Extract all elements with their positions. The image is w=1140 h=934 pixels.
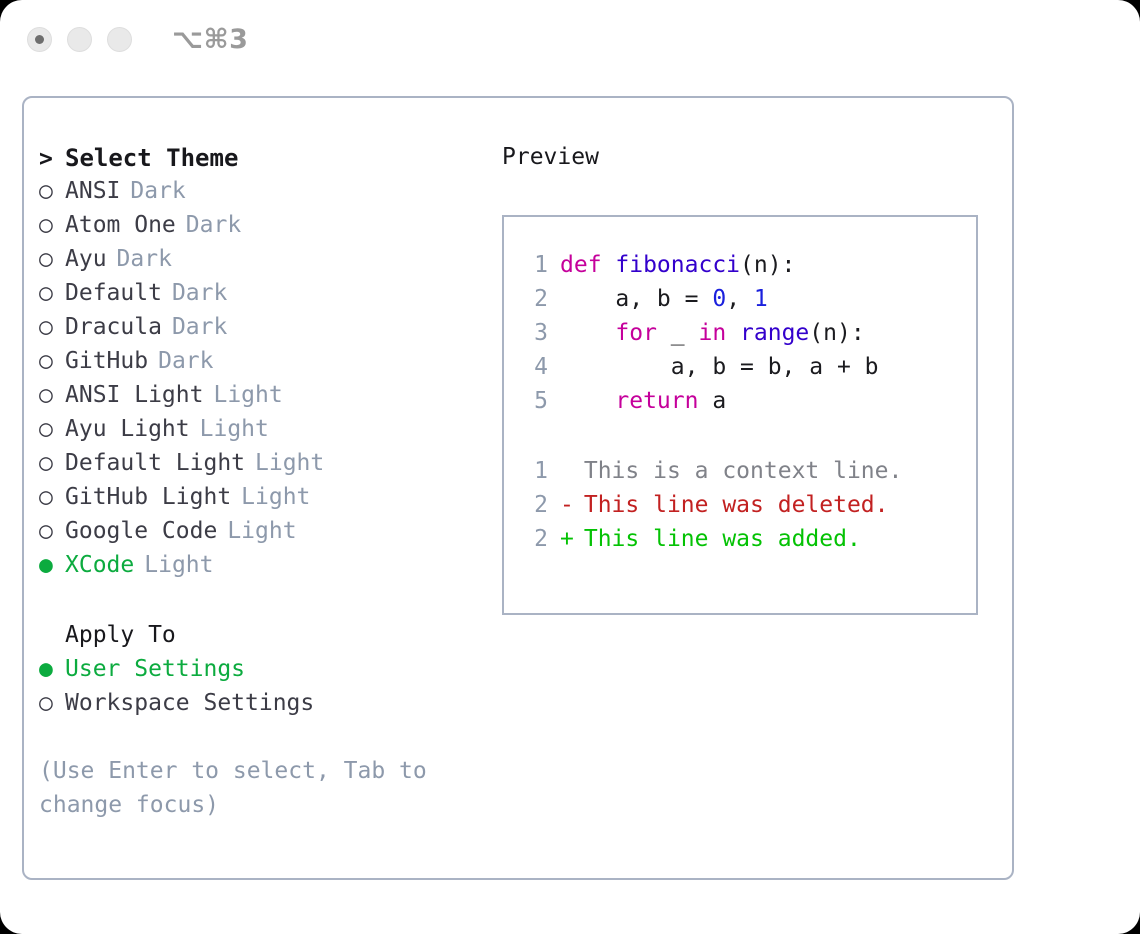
- diff-sign: -: [560, 492, 574, 518]
- keyboard-shortcut-label: ⌥⌘3: [172, 24, 248, 55]
- apply-to-item-workspace-settings[interactable]: ○Workspace Settings: [39, 690, 489, 724]
- theme-list-item-github-light[interactable]: ○GitHub LightLight: [39, 484, 489, 518]
- code-line: 3 for _ in range(n):: [518, 320, 976, 354]
- list-spacer: [39, 586, 489, 622]
- select-theme-heading-label: Select Theme: [65, 144, 238, 172]
- diff-text: This line was deleted.: [584, 492, 889, 518]
- theme-name: Ayu: [65, 246, 107, 272]
- theme-list-item-ayu-dark[interactable]: ○AyuDark: [39, 246, 489, 280]
- code-token: [560, 320, 615, 346]
- radio-icon[interactable]: ○: [39, 314, 65, 340]
- apply-to-item-user-settings[interactable]: ●User Settings: [39, 656, 489, 690]
- theme-variant: Dark: [186, 212, 241, 238]
- theme-list-item-atom-one-dark[interactable]: ○Atom OneDark: [39, 212, 489, 246]
- theme-name: GitHub: [65, 348, 148, 374]
- window-dot-inner-icon: [35, 35, 44, 44]
- code-token: ,: [726, 286, 754, 312]
- radio-icon[interactable]: ○: [39, 690, 65, 716]
- theme-list-item-default-light[interactable]: ○Default LightLight: [39, 450, 489, 484]
- theme-name: Atom One: [65, 212, 176, 238]
- apply-to-label: Workspace Settings: [65, 690, 314, 716]
- code-token: [560, 388, 615, 414]
- radio-selected-icon[interactable]: ●: [39, 552, 65, 578]
- title-bar: ⌥⌘3: [0, 0, 1140, 78]
- theme-list-item-ansi-dark[interactable]: ○ANSIDark: [39, 178, 489, 212]
- window-controls: [27, 27, 132, 52]
- theme-name: XCode: [65, 552, 134, 578]
- radio-icon[interactable]: ○: [39, 280, 65, 306]
- theme-list-item-google-code[interactable]: ○Google CodeLight: [39, 518, 489, 552]
- theme-variant: Light: [213, 382, 282, 408]
- radio-selected-icon[interactable]: ●: [39, 656, 65, 682]
- code-token: (n):: [740, 252, 795, 278]
- diff-sign: [560, 458, 574, 484]
- code-token: return: [615, 388, 698, 414]
- radio-icon[interactable]: ○: [39, 484, 65, 510]
- preview-heading: Preview: [502, 144, 992, 178]
- apply-to-list: ●User Settings ○Workspace Settings: [39, 656, 489, 724]
- radio-icon[interactable]: ○: [39, 382, 65, 408]
- theme-name: Ayu Light: [65, 416, 190, 442]
- line-number: 2: [518, 286, 548, 312]
- theme-variant: Dark: [158, 348, 213, 374]
- radio-icon[interactable]: ○: [39, 212, 65, 238]
- theme-variant: Light: [227, 518, 296, 544]
- code-line: 4 a, b = b, a + b: [518, 354, 976, 388]
- code-token: a: [698, 388, 726, 414]
- theme-variant: Light: [255, 450, 324, 476]
- theme-list-item-ansi-light[interactable]: ○ANSI LightLight: [39, 382, 489, 416]
- line-number: 1: [518, 458, 548, 484]
- theme-variant: Dark: [117, 246, 172, 272]
- code-token: for: [615, 320, 657, 346]
- code-token: [726, 320, 740, 346]
- theme-list: ○ANSIDark ○Atom OneDark ○AyuDark ○Defaul…: [39, 178, 489, 586]
- radio-icon[interactable]: ○: [39, 178, 65, 204]
- code-token: fibonacci: [615, 252, 740, 278]
- code-token: def: [560, 252, 615, 278]
- app-window: ⌥⌘3 >Select Theme ○ANSIDark ○Atom OneDar…: [0, 0, 1140, 934]
- line-number: 2: [518, 492, 548, 518]
- apply-to-heading: Apply To: [39, 622, 489, 656]
- theme-name: Default Light: [65, 450, 245, 476]
- select-theme-heading: >Select Theme: [39, 144, 489, 178]
- code-token: _: [657, 320, 699, 346]
- code-sample: 1def fibonacci(n): 2 a, b = 0, 1 3 for _…: [518, 252, 976, 422]
- theme-list-item-ayu-light[interactable]: ○Ayu LightLight: [39, 416, 489, 450]
- window-dot-active-icon[interactable]: [27, 27, 52, 52]
- radio-icon[interactable]: ○: [39, 450, 65, 476]
- theme-variant: Dark: [172, 314, 227, 340]
- theme-variant: Dark: [172, 280, 227, 306]
- diff-sign: +: [560, 526, 574, 552]
- line-number: 5: [518, 388, 548, 414]
- code-token: range: [740, 320, 809, 346]
- apply-to-label: User Settings: [65, 656, 245, 682]
- theme-name: Dracula: [65, 314, 162, 340]
- diff-line-deleted: 2-This line was deleted.: [518, 492, 976, 526]
- prompt-caret-icon: >: [39, 146, 65, 172]
- code-token: (n):: [809, 320, 864, 346]
- code-line: 2 a, b = 0, 1: [518, 286, 976, 320]
- theme-list-item-default-dark[interactable]: ○DefaultDark: [39, 280, 489, 314]
- theme-name: Google Code: [65, 518, 217, 544]
- line-number: 2: [518, 526, 548, 552]
- preview-box: 1def fibonacci(n): 2 a, b = 0, 1 3 for _…: [502, 215, 978, 615]
- radio-icon[interactable]: ○: [39, 416, 65, 442]
- theme-name: ANSI Light: [65, 382, 203, 408]
- theme-list-item-dracula-dark[interactable]: ○DraculaDark: [39, 314, 489, 348]
- theme-selector-column: >Select Theme ○ANSIDark ○Atom OneDark ○A…: [39, 144, 489, 822]
- code-line: 1def fibonacci(n):: [518, 252, 976, 286]
- code-token: a, b =: [560, 286, 712, 312]
- window-dot-2-icon[interactable]: [67, 27, 92, 52]
- diff-line-added: 2+This line was added.: [518, 526, 976, 560]
- theme-variant: Light: [241, 484, 310, 510]
- theme-variant: Light: [200, 416, 269, 442]
- theme-list-item-github-dark[interactable]: ○GitHubDark: [39, 348, 489, 382]
- window-dot-3-icon[interactable]: [107, 27, 132, 52]
- theme-name: Default: [65, 280, 162, 306]
- radio-icon[interactable]: ○: [39, 518, 65, 544]
- code-token: a, b = b, a + b: [560, 354, 879, 380]
- theme-name: GitHub Light: [65, 484, 231, 510]
- line-number: 1: [518, 252, 548, 278]
- diff-text: This line was added.: [584, 526, 861, 552]
- theme-name: ANSI: [65, 178, 120, 204]
- theme-list-item-xcode[interactable]: ●XCodeLight: [39, 552, 489, 586]
- diff-line-context: 1 This is a context line.: [518, 458, 976, 492]
- theme-variant: Light: [144, 552, 213, 578]
- code-token: in: [698, 320, 726, 346]
- code-token: 0: [712, 286, 726, 312]
- keyboard-hint-text: (Use Enter to select, Tab to change focu…: [39, 754, 439, 822]
- diff-sample: 1 This is a context line. 2-This line wa…: [518, 458, 976, 560]
- code-line: 5 return a: [518, 388, 976, 422]
- radio-icon[interactable]: ○: [39, 348, 65, 374]
- diff-text: This is a context line.: [584, 458, 903, 484]
- line-number: 4: [518, 354, 548, 380]
- line-number: 3: [518, 320, 548, 346]
- main-panel: >Select Theme ○ANSIDark ○Atom OneDark ○A…: [22, 96, 1014, 880]
- preview-divider-space: [518, 422, 976, 458]
- theme-variant: Dark: [130, 178, 185, 204]
- radio-icon[interactable]: ○: [39, 246, 65, 272]
- preview-column: Preview 1def fibonacci(n): 2 a, b = 0, 1…: [502, 144, 992, 615]
- code-token: 1: [754, 286, 768, 312]
